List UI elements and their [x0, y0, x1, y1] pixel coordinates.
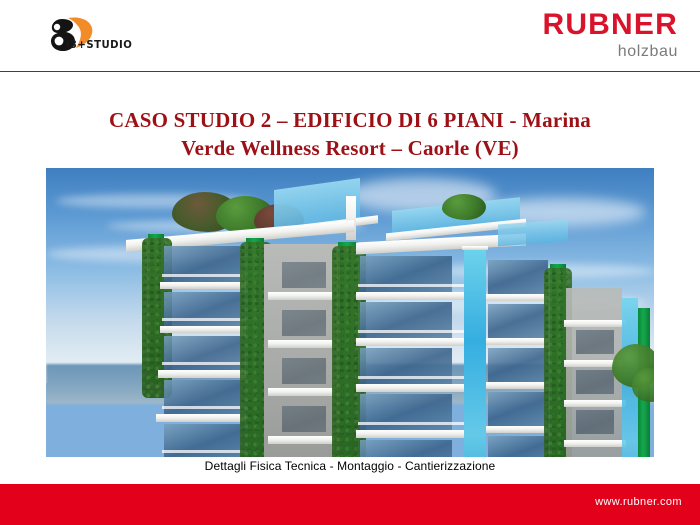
- balcony-slab: [356, 384, 466, 392]
- balcony-glazing: [164, 380, 248, 418]
- balcony-glazing: [360, 348, 452, 386]
- balcony-railing: [358, 422, 464, 425]
- balcony-glazing: [360, 256, 452, 294]
- window: [576, 410, 614, 434]
- rendering-scene: [46, 168, 654, 457]
- balcony-railing: [358, 284, 464, 287]
- balcony-slab: [268, 436, 334, 444]
- balcony-slab: [356, 430, 466, 438]
- roof-tree: [442, 194, 486, 220]
- rubner-brand-subtitle: holzbau: [542, 44, 678, 60]
- image-caption: Dettagli Fisica Tecnica - Montaggio - Ca…: [46, 457, 654, 475]
- footer-website-url[interactable]: www.rubner.com: [595, 496, 682, 508]
- window: [282, 406, 326, 432]
- window: [576, 330, 614, 354]
- balcony-glazing: [360, 302, 452, 340]
- presentation-slide: i3+STUDIO RUBNER holzbau CASO STUDIO 2 –…: [0, 0, 700, 525]
- roof-post: [346, 196, 356, 240]
- slide-title-line-2: Verde Wellness Resort – Caorle (VE): [40, 134, 660, 162]
- balcony-slab: [564, 320, 626, 327]
- balcony-slab: [268, 388, 334, 396]
- balcony-glazing: [488, 436, 548, 457]
- balcony-glazing: [488, 260, 548, 294]
- slide-footer: www.rubner.com: [0, 484, 700, 525]
- header-divider: [0, 71, 700, 72]
- balcony-glazing: [360, 394, 452, 432]
- balcony-slab: [268, 340, 334, 348]
- window: [282, 310, 326, 336]
- balcony-glazing: [488, 304, 548, 338]
- window: [282, 262, 326, 288]
- balcony-slab: [356, 292, 466, 300]
- rubner-brand-name: RUBNER: [542, 10, 678, 40]
- balcony-slab: [356, 338, 466, 346]
- balcony-slab: [564, 440, 626, 447]
- balcony-railing: [358, 376, 464, 379]
- window: [282, 358, 326, 384]
- window: [576, 370, 614, 394]
- slide-title-line-1: CASO STUDIO 2 – EDIFICIO DI 6 PIANI - Ma…: [40, 106, 660, 134]
- balcony-glazing: [360, 440, 452, 457]
- balcony-glazing: [488, 348, 548, 382]
- slide-header: i3+STUDIO RUBNER holzbau: [0, 0, 700, 72]
- building-rendering-image: [46, 168, 654, 457]
- balcony-slab: [564, 400, 626, 407]
- balcony-glazing: [164, 336, 246, 374]
- lift-cap: [462, 246, 488, 250]
- i3-studio-wordmark: i3+STUDIO: [66, 38, 132, 51]
- elevator-shaft-glazing: [464, 246, 486, 457]
- balcony-glazing: [488, 392, 548, 426]
- balcony-glazing: [164, 292, 246, 330]
- balcony-railing: [358, 330, 464, 333]
- balcony-glazing: [164, 246, 246, 286]
- rubner-logo: RUBNER holzbau: [542, 10, 678, 60]
- balcony-slab: [268, 292, 334, 300]
- slide-title: CASO STUDIO 2 – EDIFICIO DI 6 PIANI - Ma…: [40, 106, 660, 162]
